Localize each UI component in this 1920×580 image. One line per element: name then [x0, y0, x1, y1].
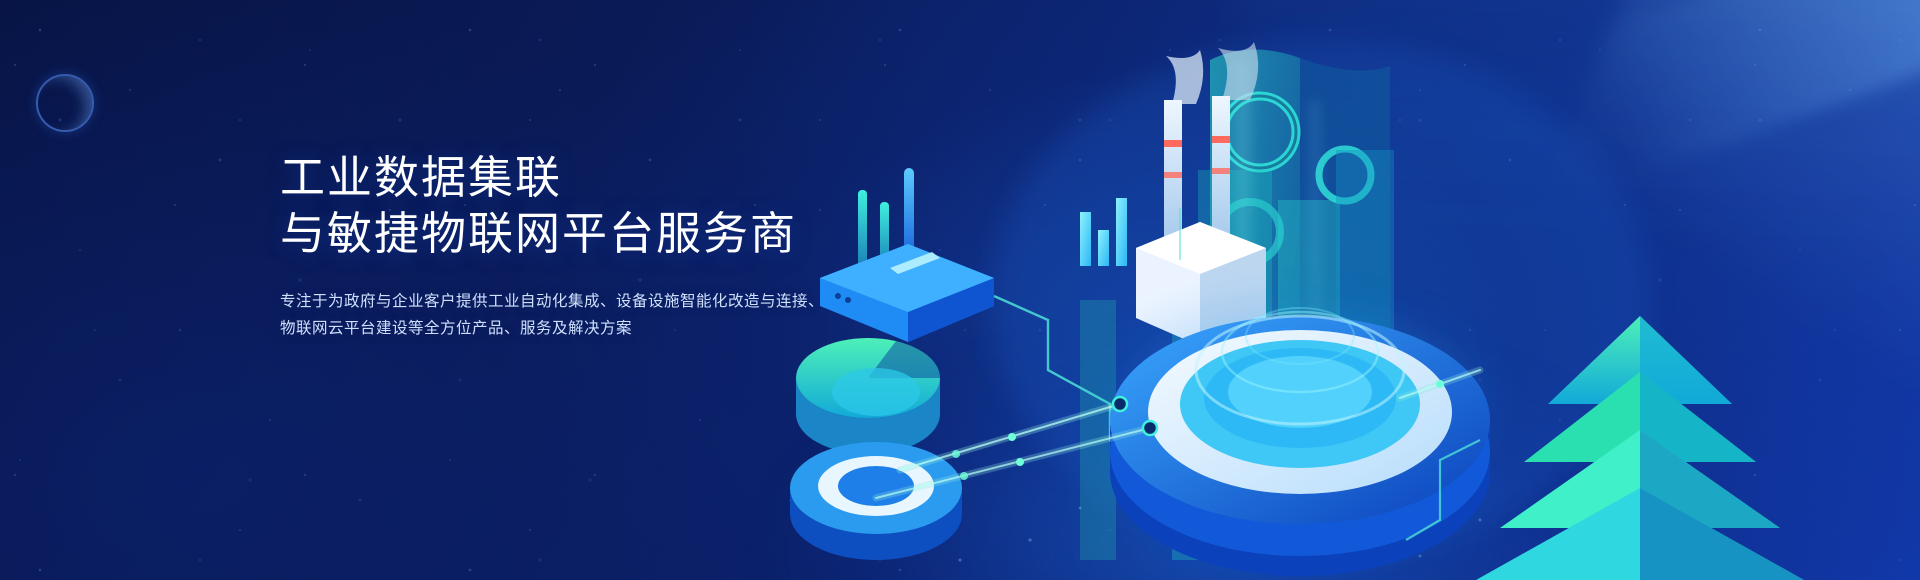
pie-cylinder: [796, 338, 940, 454]
iot-illustration: [780, 0, 1920, 580]
hero-banner: 工业数据集联 与敏捷物联网平台服务商 专注于为政府与企业客户提供工业自动化集成、…: [0, 0, 1920, 580]
crescent-moon-icon: [36, 74, 94, 132]
wifi-router: [820, 168, 994, 342]
